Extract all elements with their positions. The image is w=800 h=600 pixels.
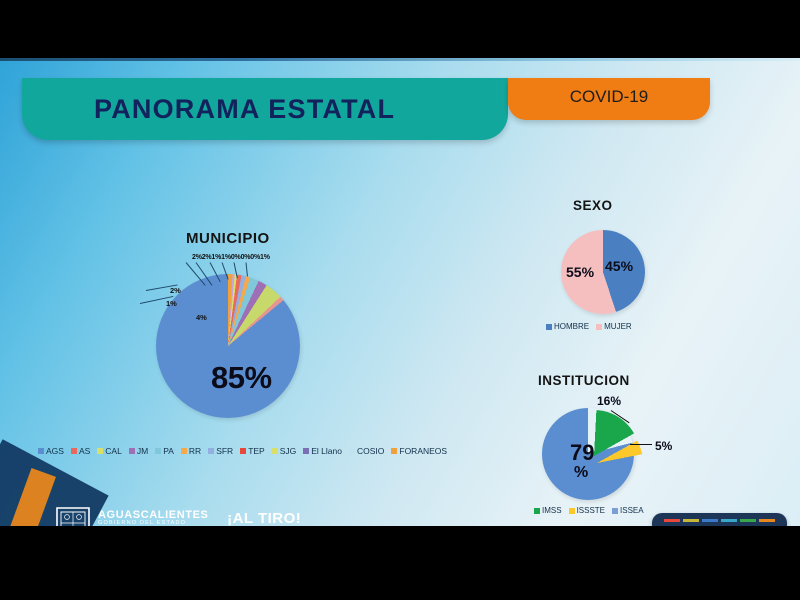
presentation-slide: PANORAMA ESTATAL COVID-19 MUNICIPIO 85% … xyxy=(0,58,800,526)
municipio-title: MUNICIPIO xyxy=(186,230,270,247)
legend-swatch xyxy=(546,324,552,330)
legend-label: COSIO xyxy=(357,446,384,456)
legend-swatch xyxy=(272,448,278,454)
institucion-issste-value: 5% xyxy=(655,439,672,453)
badge-stripes xyxy=(664,519,775,522)
legend-swatch xyxy=(155,448,161,454)
municipio-legend: AGSASCALJMPARRSFRTEPSJGEl LlanoCOSIOFORA… xyxy=(38,446,454,456)
legend-swatch xyxy=(129,448,135,454)
legend-item-pa: PA xyxy=(155,446,174,456)
legend-label: MUJER xyxy=(604,322,632,331)
leader-line xyxy=(630,444,652,445)
legend-swatch xyxy=(569,508,575,514)
legend-label: RR xyxy=(189,446,201,456)
legend-item-cal: CAL xyxy=(97,446,122,456)
legend-label: JM xyxy=(137,446,148,456)
legend-label: CAL xyxy=(105,446,122,456)
footer-logos: AGUASCALIENTES GOBIERNO DEL ESTADO Conti… xyxy=(55,506,306,526)
institucion-issea-pct: % xyxy=(574,464,588,482)
legend-item-imss: IMSS xyxy=(534,506,562,515)
legend-item-as: AS xyxy=(71,446,90,456)
sexo-legend: HOMBREMUJER xyxy=(546,322,639,331)
page-title: PANORAMA ESTATAL xyxy=(94,94,395,125)
legend-item-mujer: MUJER xyxy=(596,322,632,331)
legend-item-ags: AGS xyxy=(38,446,64,456)
sexo-title: SEXO xyxy=(573,198,613,213)
legend-item-jm: JM xyxy=(129,446,148,456)
institucion-legend: IMSSISSSTEISSEA xyxy=(534,506,651,515)
legend-label: HOMBRE xyxy=(554,322,589,331)
legend-swatch xyxy=(612,508,618,514)
municipio-label-2pct: 2% xyxy=(170,286,181,295)
legend-label: PA xyxy=(163,446,174,456)
legend-swatch xyxy=(208,448,214,454)
legend-item-sjg: SJG xyxy=(272,446,297,456)
institucion-issste-slice xyxy=(551,417,643,509)
legend-swatch xyxy=(303,448,309,454)
sexo-mujer-value: 55% xyxy=(566,264,594,280)
legend-label: AGS xyxy=(46,446,64,456)
legend-swatch xyxy=(596,324,602,330)
municipio-label-1pct: 1% xyxy=(166,299,177,308)
legend-label: SJG xyxy=(280,446,297,456)
sexo-hombre-value: 45% xyxy=(605,258,633,274)
legend-label: SFR xyxy=(216,446,233,456)
legend-label: IMSS xyxy=(542,506,562,515)
legend-item-hombre: HOMBRE xyxy=(546,322,589,331)
covid19-label: COVID-19 xyxy=(508,87,710,107)
gobierno-wordmark: AGUASCALIENTES GOBIERNO DEL ESTADO Conti… xyxy=(98,510,208,526)
legend-label: ISSEA xyxy=(620,506,644,515)
legend-label: AS xyxy=(79,446,90,456)
legend-label: ISSSTE xyxy=(577,506,605,515)
municipio-label-4pct: 4% xyxy=(196,313,207,322)
altiro-line1: ¡AL TIRO! xyxy=(222,510,305,527)
legend-item-issste: ISSSTE xyxy=(569,506,605,515)
legend-swatch xyxy=(71,448,77,454)
legend-item-cosio: COSIO xyxy=(349,446,384,456)
covid19-banner: COVID-19 xyxy=(508,78,710,120)
legend-swatch xyxy=(534,508,540,514)
legend-item-el-llano: El Llano xyxy=(303,446,342,456)
legend-swatch xyxy=(240,448,246,454)
legend-swatch xyxy=(38,448,44,454)
legend-item-issea: ISSEA xyxy=(612,506,644,515)
legend-label: El Llano xyxy=(311,446,342,456)
legend-swatch xyxy=(391,448,397,454)
institucion-issea-value: 79 xyxy=(570,440,594,466)
legend-swatch xyxy=(349,448,355,454)
legend-item-tep: TEP xyxy=(240,446,265,456)
legend-label: FORANEOS xyxy=(399,446,447,456)
contigo-al-100-badge: Contigoal100 xyxy=(652,513,787,526)
gob-line2: GOBIERNO DEL ESTADO xyxy=(98,521,208,526)
screenshot-root: PANORAMA ESTATAL COVID-19 MUNICIPIO 85% … xyxy=(0,0,800,600)
legend-item-rr: RR xyxy=(181,446,201,456)
panorama-estatal-banner: PANORAMA ESTATAL xyxy=(22,78,508,140)
legend-swatch xyxy=(181,448,187,454)
aguascalientes-shield-icon xyxy=(55,506,91,526)
leader-line xyxy=(246,262,248,276)
legend-item-sfr: SFR xyxy=(208,446,233,456)
municipio-pie-chart xyxy=(156,274,300,418)
institucion-title: INSTITUCION xyxy=(538,373,630,388)
legend-item-foraneos: FORANEOS xyxy=(391,446,447,456)
municipio-main-value: 85% xyxy=(211,360,272,396)
altiro-logo: ¡AL TIRO! CONTRA EL CORONAVIRUS xyxy=(222,510,305,527)
legend-swatch xyxy=(97,448,103,454)
municipio-small-labels: 2%2%1%1%0%0%0%1% xyxy=(192,254,270,261)
legend-label: TEP xyxy=(248,446,265,456)
institucion-imss-value: 16% xyxy=(597,394,621,408)
